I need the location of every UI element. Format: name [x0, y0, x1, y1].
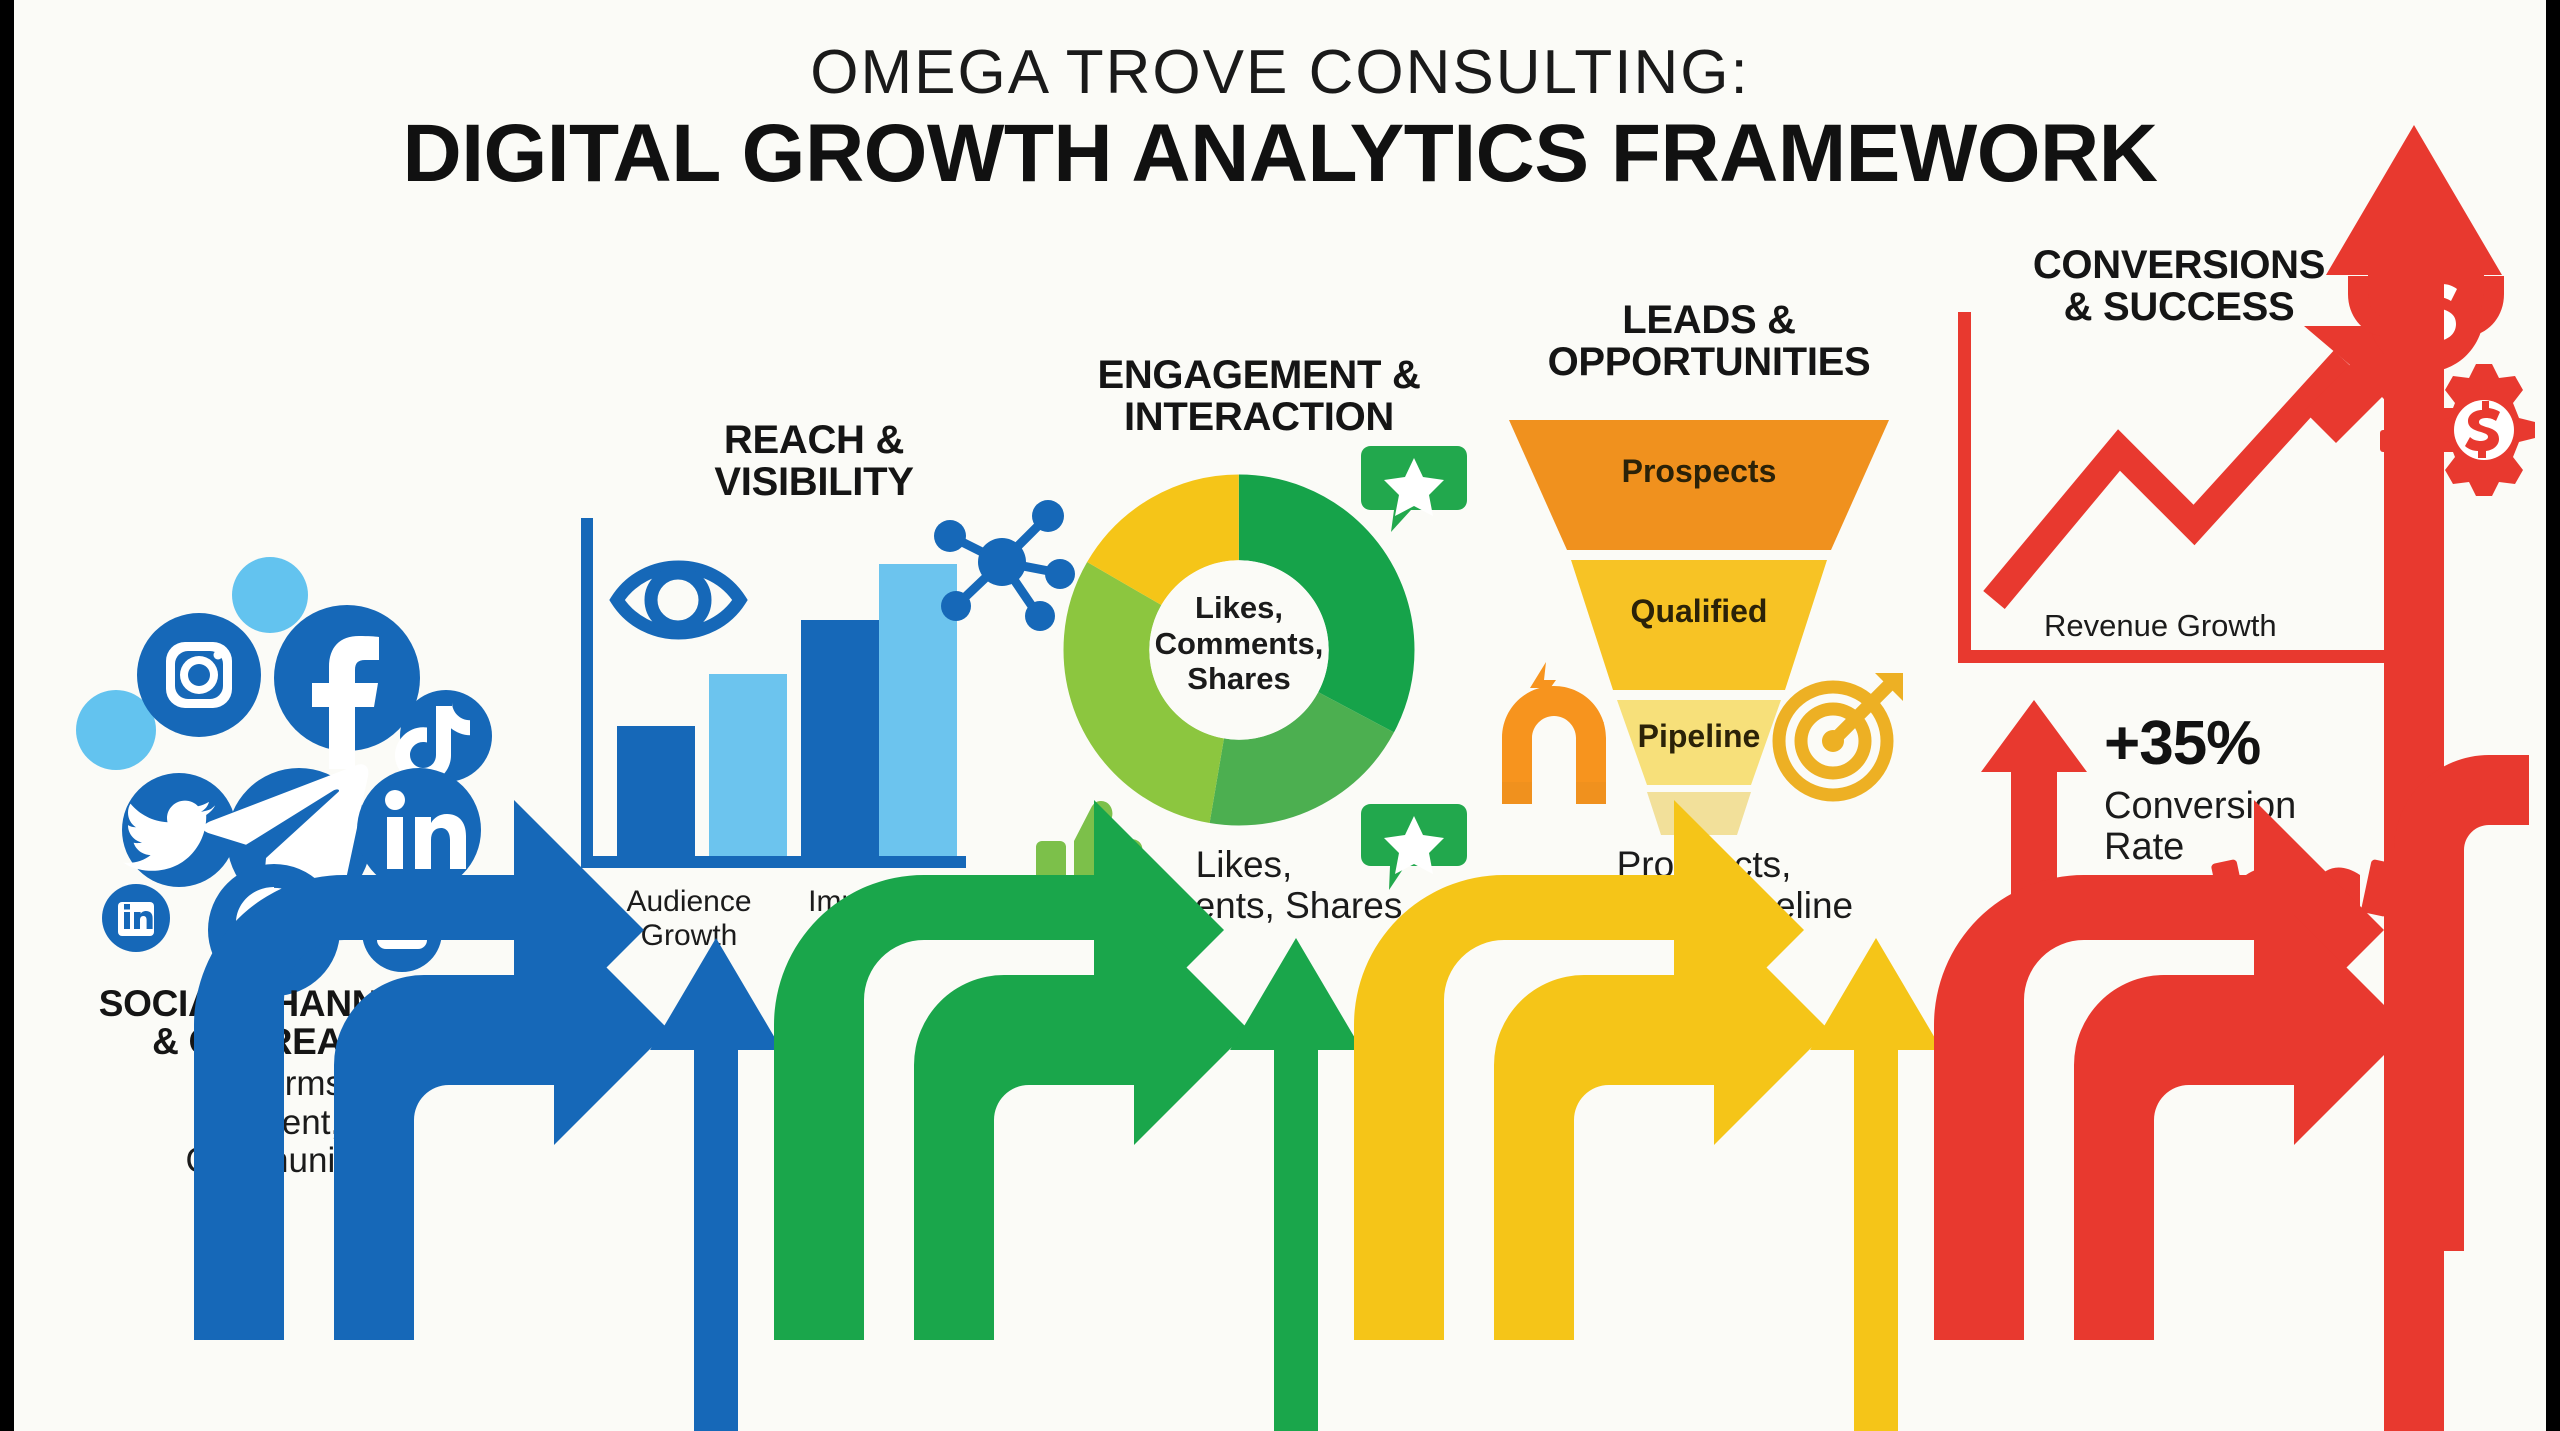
flow-arrow-blue-curve-inner [334, 915, 669, 1340]
flow-arrow-yellow-curve-inner [1494, 915, 1829, 1340]
revenue-growth-line [1994, 360, 2344, 600]
conversions-heading-line1: CONVERSIONS [2033, 243, 2325, 287]
linkedin-icon [357, 768, 481, 892]
flow-arrow-red-hook [2394, 755, 2529, 1251]
instagram-icon [137, 613, 261, 737]
page-subtitle: OMEGA TROVE CONSULTING: [14, 40, 2546, 105]
funnel-label-qualified: Qualified [1489, 595, 1909, 627]
flow-arrow-green-curve-inner [914, 915, 1249, 1340]
funnel-label-prospects: Prospects [1489, 455, 1909, 487]
page-title: DIGITAL GROWTH ANALYTICS FRAMEWORK [14, 111, 2546, 197]
engagement-heading: ENGAGEMENT & INTERACTION [1019, 355, 1499, 438]
bar-audience-growth-dark [617, 726, 695, 856]
infographic-canvas: OMEGA TROVE CONSULTING: DIGITAL GROWTH A… [0, 0, 2560, 1431]
chart-x-axis [581, 856, 966, 868]
flow-arrow-red-curve-inner [2074, 915, 2409, 1340]
chart-y-axis [581, 518, 593, 868]
star-bubble-icon [1359, 440, 1469, 545]
flow-arrow-green-straight [1230, 938, 1362, 1431]
magnet-icon [1484, 660, 1624, 810]
gear-dollar-icon [2433, 364, 2535, 496]
bottom-flow-arrows [14, 915, 2560, 1431]
revenue-chart-y-axis [1958, 312, 1971, 662]
accent-dot-icon [232, 557, 308, 633]
bar-impressions-dark [801, 620, 879, 856]
engagement-heading-line2: INTERACTION [1124, 395, 1394, 439]
bar-audience-growth-light [709, 674, 787, 856]
conversion-rate-value: +35% [2104, 713, 2260, 775]
leads-heading-line1: LEADS & [1622, 298, 1795, 342]
leads-heading-line2: OPPORTUNITIES [1548, 340, 1871, 384]
trophy-gear-group [2344, 250, 2560, 500]
reach-heading-line2: VISIBILITY [714, 460, 913, 504]
eye-icon [617, 567, 740, 633]
engagement-heading-line1: ENGAGEMENT & [1097, 353, 1420, 397]
target-arrow-icon [1769, 665, 1909, 805]
leads-heading: LEADS & OPPORTUNITIES [1484, 300, 1934, 383]
donut-center-label: Likes, Comments, Shares [1124, 590, 1354, 697]
page-title-block: OMEGA TROVE CONSULTING: DIGITAL GROWTH A… [14, 40, 2546, 197]
reach-heading-line1: REACH & [724, 418, 904, 462]
revenue-chart-x-axis [1958, 650, 2428, 663]
flow-arrow-yellow-straight [1810, 938, 1942, 1431]
revenue-growth-label: Revenue Growth [2044, 608, 2277, 644]
flow-arrow-blue-straight [650, 938, 782, 1431]
